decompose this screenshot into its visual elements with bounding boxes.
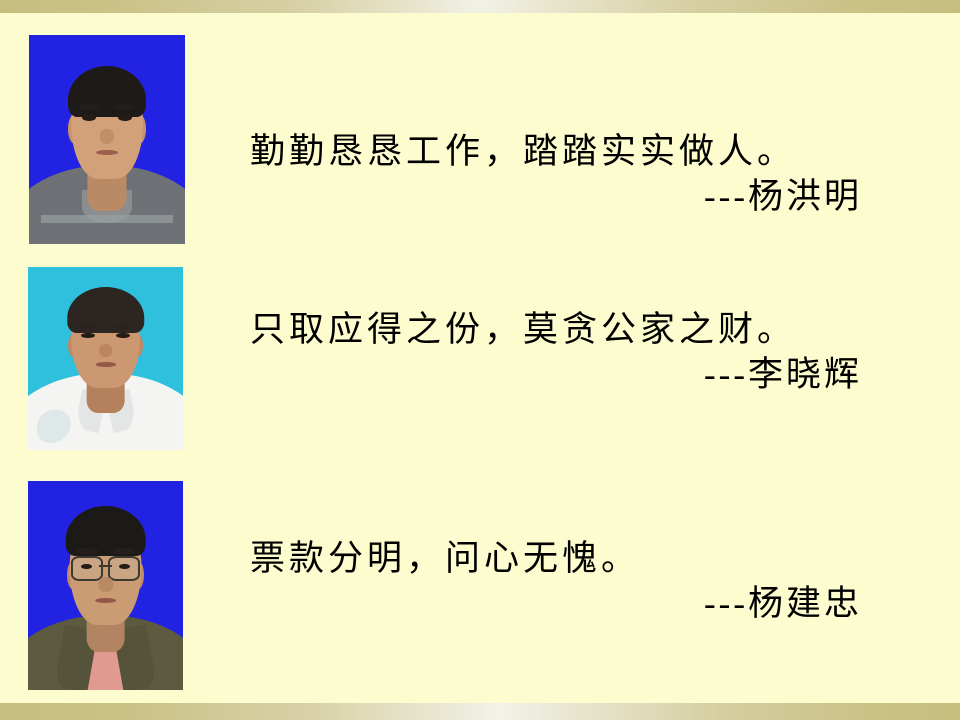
quote-attribution-1: ---杨洪明 (250, 174, 900, 220)
top-decorative-band (0, 0, 960, 13)
photo-3-brow-right (113, 548, 135, 554)
slide: 勤勤恳恳工作，踏踏实实做人。 ---杨洪明 只取应得之份，莫贪公家之财。 ---… (0, 0, 960, 720)
quote-attribution-3: ---杨建忠 (250, 581, 900, 627)
photo-1-nose (100, 129, 114, 144)
quote-text-2: 只取应得之份，莫贪公家之财。 (250, 308, 900, 352)
quote-text-3: 票款分明，问心无愧。 (250, 537, 900, 581)
photo-2-nose (99, 344, 113, 357)
bottom-decorative-band (0, 703, 960, 720)
portrait-photo-2[interactable] (28, 267, 183, 450)
quote-block-3: 票款分明，问心无愧。 ---杨建忠 (250, 537, 900, 627)
photo-3-glasses-bridge (99, 565, 111, 567)
photo-3-eye-right (119, 564, 130, 569)
photo-2-brow-right (113, 324, 133, 329)
photo-1-collar-stripe (41, 215, 172, 223)
photo-3-nose (98, 577, 114, 592)
quote-block-1: 勤勤恳恳工作，踏踏实实做人。 ---杨洪明 (250, 130, 900, 220)
quote-block-2: 只取应得之份，莫贪公家之财。 ---李晓辉 (250, 308, 900, 398)
quote-attribution-2: ---李晓辉 (250, 352, 900, 398)
photo-3-eye-left (81, 564, 92, 569)
portrait-photo-1[interactable] (29, 35, 185, 244)
portrait-photo-3[interactable] (28, 481, 183, 690)
photo-3-brow-left (76, 548, 98, 554)
quote-text-1: 勤勤恳恳工作，踏踏实实做人。 (250, 130, 900, 174)
photo-2-brow-left (78, 324, 98, 329)
